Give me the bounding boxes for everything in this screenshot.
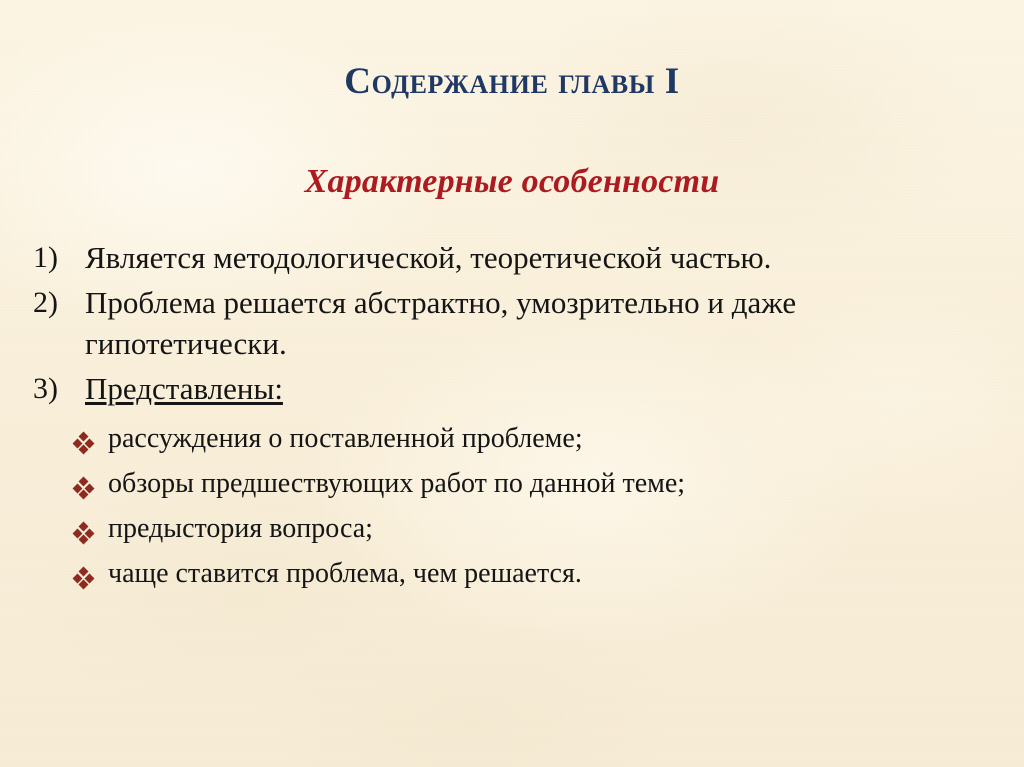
sub-bullet-list: рассуждения о поставленной проблеме; обз… (0, 421, 1024, 591)
list-item-marker: 3) (33, 369, 79, 408)
page-subtitle: Характерные особенности (0, 164, 1024, 200)
list-item-text: обзоры предшествующих работ по данной те… (108, 466, 948, 502)
list-item: рассуждения о поставленной проблеме; (0, 421, 1024, 457)
list-item-text: рассуждения о поставленной проблеме; (108, 421, 948, 457)
list-item: чаще ставится проблема, чем решается. (0, 556, 1024, 592)
list-item: предыстория вопроса; (0, 511, 1024, 547)
list-item-text: чаще ставится проблема, чем решается. (108, 556, 948, 592)
list-item: 2) Проблема решается абстрактно, умозрит… (0, 283, 1024, 364)
list-item-text: Является методологической, теоретической… (85, 238, 985, 278)
list-item-text: Проблема решается абстрактно, умозритель… (85, 283, 985, 364)
diamond-bullet-icon (74, 478, 94, 498)
slide-canvas: Содержание главы I Характерные особеннос… (0, 0, 1024, 767)
list-item-marker: 1) (33, 238, 79, 277)
list-item: 3) Представлены: (0, 369, 1024, 409)
diamond-bullet-icon (74, 433, 94, 453)
page-title: Содержание главы I (0, 63, 1024, 102)
content-body: 1) Является методологической, теоретичес… (0, 238, 1024, 601)
list-item-marker: 2) (33, 283, 79, 322)
list-item-text: Представлены: (85, 369, 283, 409)
diamond-bullet-icon (74, 523, 94, 543)
diamond-bullet-icon (74, 568, 94, 588)
list-item: обзоры предшествующих работ по данной те… (0, 466, 1024, 502)
list-item: 1) Является методологической, теоретичес… (0, 238, 1024, 278)
list-item-text: предыстория вопроса; (108, 511, 948, 547)
